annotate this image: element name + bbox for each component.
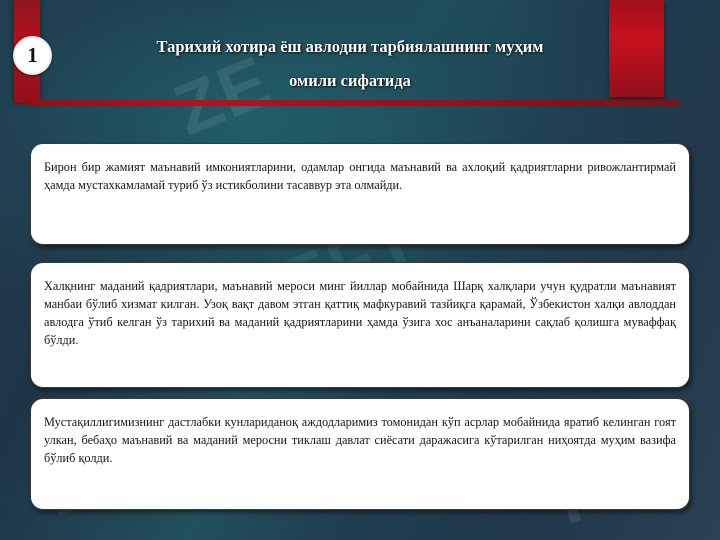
slide-canvas: ZE ZEFT FE ZE FT 1 Тарихий хотира ёш авл…: [0, 0, 720, 540]
slide-header: 1 Тарихий хотира ёш авлодни тарбиялашнин…: [0, 0, 720, 108]
slide-number-badge: 1: [13, 36, 52, 75]
content-box: Бирон бир жамият маънавий имкониятларини…: [30, 143, 690, 245]
slide-number-label: 1: [27, 45, 38, 66]
page-title-line-1: Тарихий хотира ёш авлодни тарбиялашнинг …: [156, 37, 543, 56]
content-box-text: Мустақиллигимизнинг дастлабки кунларидан…: [44, 413, 676, 467]
page-title-line-2: омили сифатида: [70, 64, 630, 98]
content-box: Мустақиллигимизнинг дастлабки кунларидан…: [30, 398, 690, 510]
red-divider-rule: [28, 100, 680, 106]
content-box: Халқнинг маданий қадриятлари, маънавий м…: [30, 262, 690, 388]
content-box-text: Бирон бир жамият маънавий имкониятларини…: [44, 158, 676, 194]
content-box-text: Халқнинг маданий қадриятлари, маънавий м…: [44, 277, 676, 349]
page-title: Тарихий хотира ёш авлодни тарбиялашнинг …: [70, 30, 630, 98]
